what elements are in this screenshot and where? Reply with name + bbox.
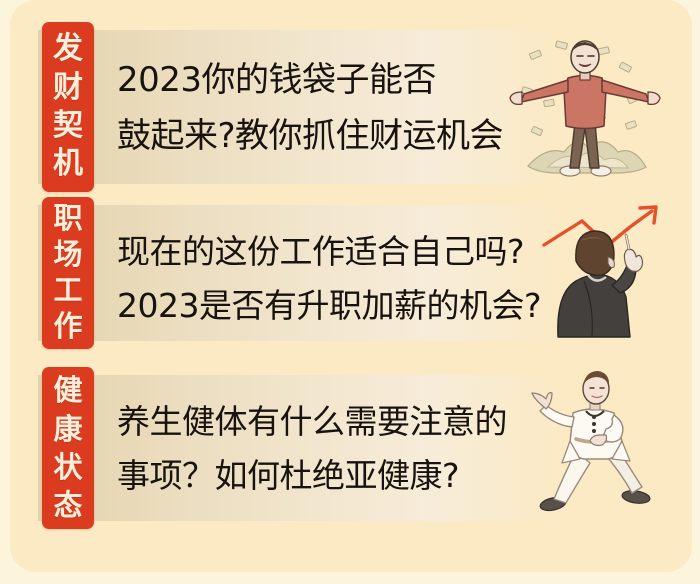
tab-char: 财 — [53, 69, 83, 107]
tab-char: 契 — [53, 107, 83, 145]
tab-char: 工 — [53, 273, 82, 309]
promo-page: 发 财 契 机 2023你的钱袋子能否 鼓起来?教你抓住财运机会 — [0, 0, 700, 584]
section-tab-wealth[interactable]: 发 财 契 机 — [42, 22, 94, 192]
tab-char: 康 — [53, 410, 82, 448]
headline-line: 现在的这份工作适合自己吗? — [117, 225, 541, 279]
headline-line: 事项？如何杜绝亚健康? — [117, 449, 507, 503]
section-text-wealth: 2023你的钱袋子能否 鼓起来?教你抓住财运机会 — [117, 52, 503, 164]
section-tab-career[interactable]: 职 场 工 作 — [42, 197, 94, 349]
tab-char: 作 — [53, 309, 82, 345]
tab-char: 健 — [53, 371, 82, 409]
section-tab-health[interactable]: 健 康 状 态 — [42, 367, 94, 529]
section-row-career[interactable]: 职 场 工 作 现在的这份工作适合自己吗? 2023是否有升职加薪的机会? — [0, 197, 682, 349]
headline-line: 2023你的钱袋子能否 — [117, 52, 503, 108]
businessman-rising-chart-illustration — [536, 201, 681, 341]
section-row-wealth[interactable]: 发 财 契 机 2023你的钱袋子能否 鼓起来?教你抓住财运机会 — [0, 22, 682, 192]
tab-char: 机 — [53, 145, 83, 183]
taichi-man-illustration — [528, 367, 680, 529]
headline-line: 鼓起来?教你抓住财运机会 — [117, 108, 503, 164]
tab-char: 场 — [53, 237, 82, 273]
tab-char: 状 — [53, 448, 82, 486]
section-text-career: 现在的这份工作适合自己吗? 2023是否有升职加薪的机会? — [117, 225, 541, 333]
section-list: 发 财 契 机 2023你的钱袋子能否 鼓起来?教你抓住财运机会 — [0, 0, 700, 584]
headline-line: 养生健体有什么需要注意的 — [117, 395, 507, 449]
tab-char: 态 — [53, 486, 82, 524]
section-row-health[interactable]: 健 康 状 态 养生健体有什么需要注意的 事项？如何杜绝亚健康? — [0, 367, 682, 529]
man-with-money-illustration — [500, 30, 670, 190]
tab-char: 职 — [53, 201, 82, 237]
headline-line: 2023是否有升职加薪的机会? — [117, 279, 541, 333]
section-text-health: 养生健体有什么需要注意的 事项？如何杜绝亚健康? — [117, 395, 507, 503]
tab-char: 发 — [53, 30, 83, 68]
